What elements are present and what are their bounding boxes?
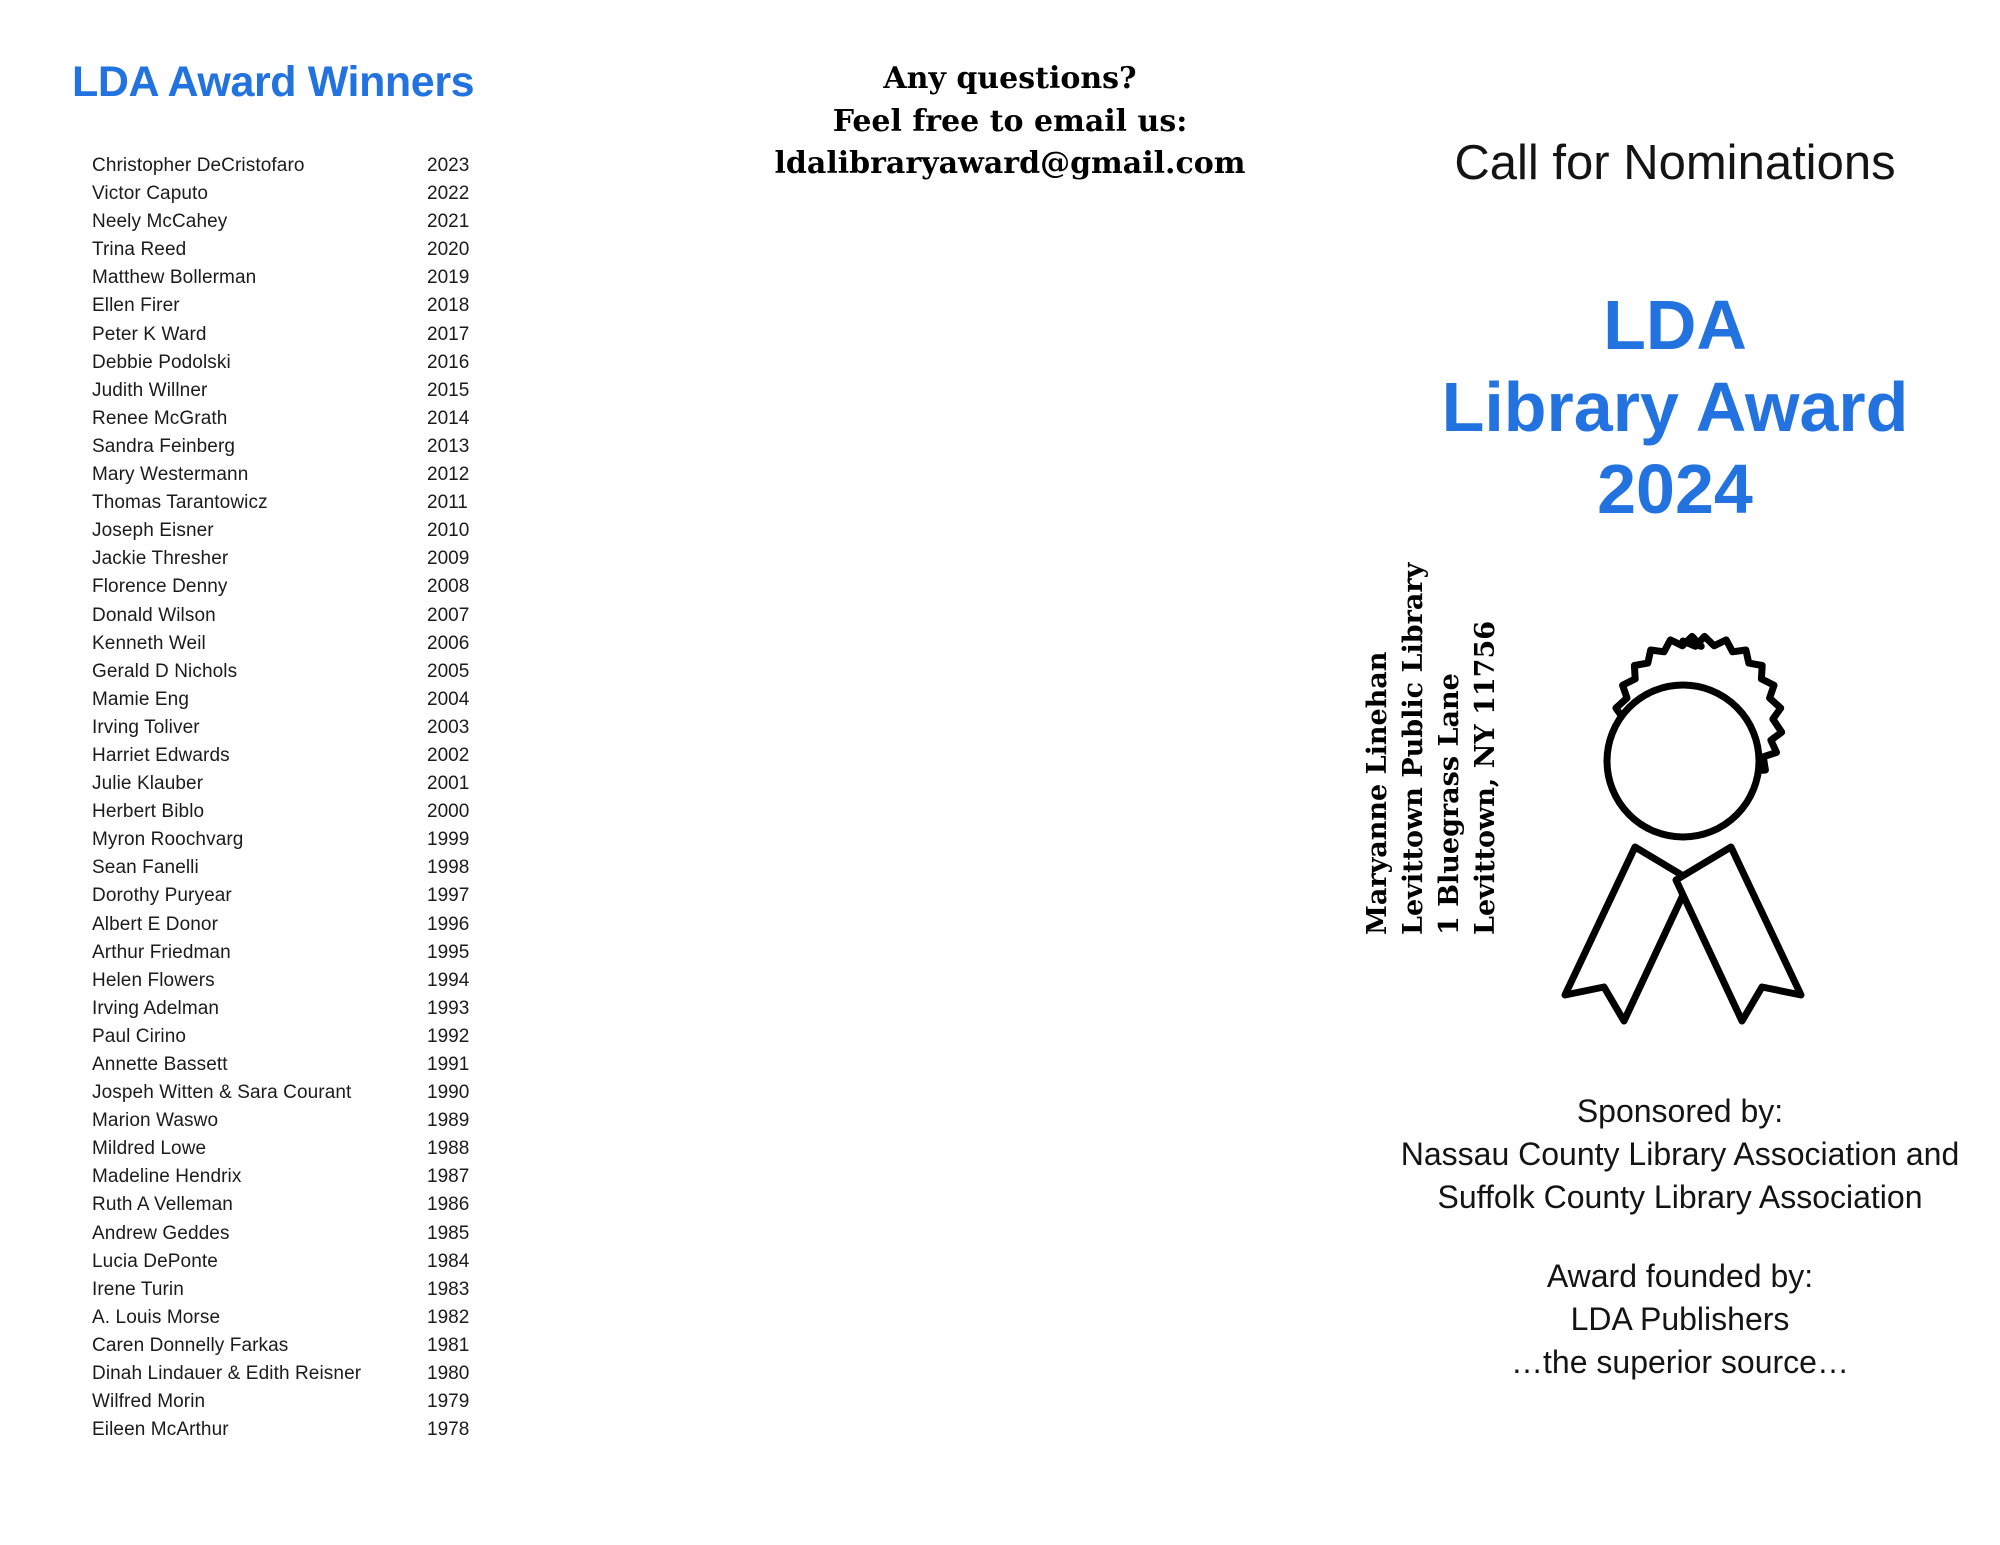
- winner-row: Julie Klauber2001: [92, 773, 512, 801]
- winner-year: 2015: [427, 380, 469, 402]
- winner-row: Joseph Eisner2010: [92, 520, 512, 548]
- contact-invite-line: Feel free to email us:: [660, 101, 1360, 144]
- winner-year: 2003: [427, 717, 469, 739]
- winner-name: Mildred Lowe: [92, 1138, 427, 1160]
- winner-name: Caren Donnelly Farkas: [92, 1335, 427, 1357]
- winner-year: 1988: [427, 1138, 469, 1160]
- winner-row: Florence Denny2008: [92, 576, 512, 604]
- winner-name: Mary Westermann: [92, 464, 427, 486]
- winner-year: 2005: [427, 661, 469, 683]
- winner-name: Julie Klauber: [92, 773, 427, 795]
- winner-row: Annette Bassett1991: [92, 1054, 512, 1082]
- winner-year: 1997: [427, 885, 469, 907]
- award-winners-panel: LDA Award Winners Christopher DeCristofa…: [0, 0, 660, 1545]
- winner-year: 1983: [427, 1279, 469, 1301]
- winner-row: Jospeh Witten & Sara Courant1990: [92, 1082, 512, 1110]
- winner-name: Matthew Bollerman: [92, 267, 427, 289]
- award-title-line-1: LDA: [1315, 285, 2000, 367]
- winner-year: 1993: [427, 998, 469, 1020]
- founder-org: LDA Publishers: [1330, 1298, 2000, 1341]
- winner-name: Marion Waswo: [92, 1110, 427, 1132]
- winners-panel-title: LDA Award Winners: [72, 58, 474, 107]
- award-title-line-2: Library Award: [1315, 367, 2000, 449]
- winner-row: Christopher DeCristofaro2023: [92, 155, 512, 183]
- winner-row: Dinah Lindauer & Edith Reisner1980: [92, 1363, 512, 1391]
- winner-row: Matthew Bollerman2019: [92, 267, 512, 295]
- winner-name: Thomas Tarantowicz: [92, 492, 427, 514]
- winner-year: 1996: [427, 914, 469, 936]
- winner-row: Mildred Lowe1988: [92, 1138, 512, 1166]
- winner-row: Donald Wilson2007: [92, 605, 512, 633]
- winner-row: Herbert Biblo2000: [92, 801, 512, 829]
- founder-label: Award founded by:: [1330, 1255, 2000, 1298]
- winner-name: Jackie Thresher: [92, 548, 427, 570]
- winner-name: Peter K Ward: [92, 324, 427, 346]
- winner-name: Kenneth Weil: [92, 633, 427, 655]
- winner-row: Albert E Donor1996: [92, 914, 512, 942]
- winner-year: 1980: [427, 1363, 469, 1385]
- winner-year: 1992: [427, 1026, 469, 1048]
- winner-name: Helen Flowers: [92, 970, 427, 992]
- winner-name: Sean Fanelli: [92, 857, 427, 879]
- award-title-line-3: 2024: [1315, 449, 2000, 531]
- winner-row: Mamie Eng2004: [92, 689, 512, 717]
- winner-year: 1982: [427, 1307, 469, 1329]
- award-title: LDA Library Award 2024: [1315, 285, 2000, 531]
- winner-name: Irene Turin: [92, 1279, 427, 1301]
- winner-row: Mary Westermann2012: [92, 464, 512, 492]
- winner-year: 1986: [427, 1194, 469, 1216]
- winner-name: Mamie Eng: [92, 689, 427, 711]
- winner-row: Myron Roochvarg1999: [92, 829, 512, 857]
- winner-year: 1985: [427, 1223, 469, 1245]
- winner-year: 2007: [427, 605, 469, 627]
- winner-row: Wilfred Morin1979: [92, 1391, 512, 1419]
- winner-year: 1994: [427, 970, 469, 992]
- winner-name: Eileen McArthur: [92, 1419, 427, 1441]
- winner-year: 1978: [427, 1419, 469, 1441]
- winner-row: Peter K Ward2017: [92, 324, 512, 352]
- winner-row: Madeline Hendrix1987: [92, 1166, 512, 1194]
- winner-year: 2023: [427, 155, 469, 177]
- winner-year: 2001: [427, 773, 469, 795]
- winner-row: Marion Waswo1989: [92, 1110, 512, 1138]
- winner-row: Sandra Feinberg2013: [92, 436, 512, 464]
- winner-row: Kenneth Weil2006: [92, 633, 512, 661]
- winner-name: Myron Roochvarg: [92, 829, 427, 851]
- winner-row: Jackie Thresher2009: [92, 548, 512, 576]
- winner-row: Dorothy Puryear1997: [92, 885, 512, 913]
- winner-name: Sandra Feinberg: [92, 436, 427, 458]
- founder-tagline: …the superior source…: [1330, 1341, 2000, 1384]
- winner-name: Irving Adelman: [92, 998, 427, 1020]
- winner-row: Thomas Tarantowicz2011: [92, 492, 512, 520]
- winner-name: Victor Caputo: [92, 183, 427, 205]
- contact-panel: Any questions? Feel free to email us: ld…: [660, 0, 1360, 1545]
- winner-name: Lucia DePonte: [92, 1251, 427, 1273]
- award-ribbon-icon: [1518, 625, 1848, 1025]
- winner-name: Madeline Hendrix: [92, 1166, 427, 1188]
- winner-name: Albert E Donor: [92, 914, 427, 936]
- winner-name: Andrew Geddes: [92, 1223, 427, 1245]
- winner-row: Neely McCahey2021: [92, 211, 512, 239]
- winner-name: Dinah Lindauer & Edith Reisner: [92, 1363, 427, 1385]
- winner-year: 1995: [427, 942, 469, 964]
- winner-name: Gerald D Nichols: [92, 661, 427, 683]
- winner-row: Victor Caputo2022: [92, 183, 512, 211]
- winner-row: Caren Donnelly Farkas1981: [92, 1335, 512, 1363]
- sponsor-label: Sponsored by:: [1330, 1090, 2000, 1133]
- winner-year: 1987: [427, 1166, 469, 1188]
- winner-year: 2014: [427, 408, 469, 430]
- winner-row: Andrew Geddes1985: [92, 1223, 512, 1251]
- winner-row: Gerald D Nichols2005: [92, 661, 512, 689]
- contact-question-line: Any questions?: [660, 58, 1360, 101]
- winner-name: Ellen Firer: [92, 295, 427, 317]
- winner-name: Irving Toliver: [92, 717, 427, 739]
- winner-name: Wilfred Morin: [92, 1391, 427, 1413]
- winner-name: Herbert Biblo: [92, 801, 427, 823]
- winner-name: Renee McGrath: [92, 408, 427, 430]
- winner-year: 2008: [427, 576, 469, 598]
- winner-year: 2006: [427, 633, 469, 655]
- winner-year: 2017: [427, 324, 469, 346]
- winner-year: 2016: [427, 352, 469, 374]
- winner-row: Irene Turin1983: [92, 1279, 512, 1307]
- winner-row: A. Louis Morse1982: [92, 1307, 512, 1335]
- winner-row: Harriet Edwards2002: [92, 745, 512, 773]
- winner-row: Helen Flowers1994: [92, 970, 512, 998]
- winner-year: 2020: [427, 239, 469, 261]
- winner-name: Neely McCahey: [92, 211, 427, 233]
- winner-name: Harriet Edwards: [92, 745, 427, 767]
- sponsor-block: Sponsored by: Nassau County Library Asso…: [1330, 1090, 2000, 1219]
- winner-name: Trina Reed: [92, 239, 427, 261]
- winner-row: Ruth A Velleman1986: [92, 1194, 512, 1222]
- winner-year: 1999: [427, 829, 469, 851]
- winner-row: Trina Reed2020: [92, 239, 512, 267]
- winner-year: 2021: [427, 211, 469, 233]
- winner-row: Lucia DePonte1984: [92, 1251, 512, 1279]
- winner-name: Ruth A Velleman: [92, 1194, 427, 1216]
- contact-block: Any questions? Feel free to email us: ld…: [660, 58, 1360, 186]
- winner-year: 1990: [427, 1082, 469, 1104]
- winner-year: 2000: [427, 801, 469, 823]
- winner-year: 2022: [427, 183, 469, 205]
- winner-year: 1981: [427, 1335, 469, 1357]
- winner-row: Irving Adelman1993: [92, 998, 512, 1026]
- winner-row: Arthur Friedman1995: [92, 942, 512, 970]
- sponsor-org-suffolk: Suffolk County Library Association: [1330, 1176, 2000, 1219]
- winner-row: Renee McGrath2014: [92, 408, 512, 436]
- winner-name: Annette Bassett: [92, 1054, 427, 1076]
- winner-row: Eileen McArthur1978: [92, 1419, 512, 1447]
- winner-year: 1979: [427, 1391, 469, 1413]
- winner-name: Donald Wilson: [92, 605, 427, 627]
- call-for-nominations-heading: Call for Nominations: [1325, 135, 2000, 191]
- winner-row: Sean Fanelli1998: [92, 857, 512, 885]
- winner-name: Debbie Podolski: [92, 352, 427, 374]
- winner-year: 1989: [427, 1110, 469, 1132]
- sponsor-org-nassau: Nassau County Library Association and: [1330, 1133, 2000, 1176]
- winner-row: Irving Toliver2003: [92, 717, 512, 745]
- winner-name: Jospeh Witten & Sara Courant: [92, 1082, 427, 1104]
- winner-name: Arthur Friedman: [92, 942, 427, 964]
- winner-year: 2011: [427, 492, 468, 514]
- winner-year: 1998: [427, 857, 469, 879]
- winner-name: Paul Cirino: [92, 1026, 427, 1048]
- winner-year: 1991: [427, 1054, 469, 1076]
- winner-row: Ellen Firer2018: [92, 295, 512, 323]
- winner-name: Florence Denny: [92, 576, 427, 598]
- winner-year: 2004: [427, 689, 469, 711]
- winner-row: Paul Cirino1992: [92, 1026, 512, 1054]
- winner-name: Joseph Eisner: [92, 520, 427, 542]
- winner-year: 1984: [427, 1251, 469, 1273]
- winner-row: Debbie Podolski2016: [92, 352, 512, 380]
- winner-year: 2010: [427, 520, 469, 542]
- winner-name: Christopher DeCristofaro: [92, 155, 427, 177]
- winners-list: Christopher DeCristofaro2023Victor Caput…: [92, 155, 512, 1447]
- winner-year: 2012: [427, 464, 469, 486]
- winner-name: Judith Willner: [92, 380, 427, 402]
- winner-year: 2019: [427, 267, 469, 289]
- contact-email[interactable]: ldalibraryaward@gmail.com: [660, 143, 1360, 186]
- winner-row: Judith Willner2015: [92, 380, 512, 408]
- brochure-page: LDA Award Winners Christopher DeCristofa…: [0, 0, 2000, 1545]
- winner-year: 2009: [427, 548, 469, 570]
- founder-block: Award founded by: LDA Publishers …the su…: [1330, 1255, 2000, 1384]
- winner-name: Dorothy Puryear: [92, 885, 427, 907]
- winner-name: A. Louis Morse: [92, 1307, 427, 1329]
- winner-year: 2018: [427, 295, 469, 317]
- winner-year: 2013: [427, 436, 469, 458]
- winner-year: 2002: [427, 745, 469, 767]
- cover-panel: Call for Nominations LDA Library Award 2…: [1360, 0, 2000, 1545]
